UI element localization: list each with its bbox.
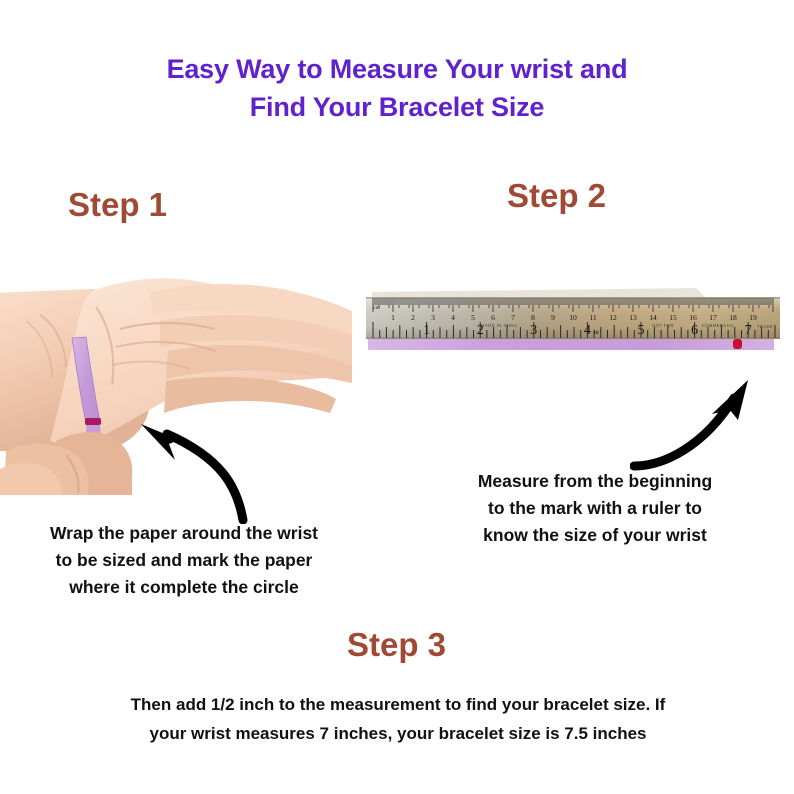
svg-text:17: 17 (709, 313, 717, 322)
step-2-heading: Step 2 (507, 177, 606, 215)
svg-text:4: 4 (451, 313, 455, 322)
little-finger (164, 377, 336, 413)
svg-text:18: 18 (729, 313, 737, 322)
svg-text:16: 16 (689, 313, 697, 322)
cm-unit-label: cm (373, 305, 380, 311)
step-3-heading: Step 3 (347, 626, 446, 664)
svg-text:5: 5 (638, 323, 645, 338)
imprint-not-for: NOT FOR (652, 323, 674, 328)
page-title-line-2: Find Your Bracelet Size (0, 88, 794, 126)
step-3-caption-line-1: Then add 1/2 inch to the measurement to … (62, 690, 734, 719)
svg-text:13: 13 (629, 313, 637, 322)
svg-text:1: 1 (423, 323, 430, 338)
svg-text:4: 4 (584, 323, 591, 338)
svg-text:11: 11 (589, 313, 597, 322)
ruler-photo: cm 123 456 789 101112 131415 161718 19 (366, 282, 780, 364)
svg-text:10: 10 (569, 313, 577, 322)
step-1-heading: Step 1 (68, 186, 167, 224)
inch-unit-label: in (594, 330, 599, 336)
step-2-caption-line-3: know the size of your wrist (404, 522, 786, 549)
step-3-caption: Then add 1/2 inch to the measurement to … (62, 690, 734, 748)
step-1-caption: Wrap the paper around the wrist to be si… (0, 520, 368, 601)
page-title-line-1: Easy Way to Measure Your wrist and (0, 50, 794, 88)
svg-text:3: 3 (530, 323, 537, 338)
svg-text:5: 5 (471, 313, 475, 322)
paper-strip-red-mark (733, 339, 742, 349)
arrow-shaft (167, 434, 243, 520)
svg-text:12: 12 (609, 313, 617, 322)
imprint-commercial: COMMERCIAL (702, 323, 735, 328)
svg-text:19: 19 (749, 313, 757, 322)
svg-text:6: 6 (691, 323, 698, 338)
step-1-caption-line-2: to be sized and mark the paper (0, 547, 368, 574)
svg-text:14: 14 (649, 313, 657, 322)
svg-text:2: 2 (411, 313, 415, 322)
infographic-page: Easy Way to Measure Your wrist and Find … (0, 0, 794, 794)
svg-text:7: 7 (511, 313, 515, 322)
svg-text:1: 1 (391, 313, 395, 322)
arrow-head (141, 424, 179, 460)
step-1-caption-line-3: where it complete the circle (0, 574, 368, 601)
curved-arrow-step-2 (630, 376, 760, 472)
page-title: Easy Way to Measure Your wrist and Find … (0, 50, 794, 126)
step-3-caption-line-2: your wrist measures 7 inches, your brace… (62, 719, 734, 748)
imprint-made-in-india: MADE IN INDIA (481, 323, 517, 328)
step-2-caption-line-1: Measure from the beginning (404, 468, 786, 495)
paper-strip-mark (85, 418, 101, 425)
svg-text:15: 15 (669, 313, 677, 322)
step-1-caption-line-1: Wrap the paper around the wrist (0, 520, 368, 547)
imprint-trade: TRADE (757, 324, 773, 329)
step-2-caption: Measure from the beginning to the mark w… (404, 468, 786, 549)
svg-text:7: 7 (745, 323, 752, 338)
svg-text:9: 9 (551, 313, 555, 322)
step-2-caption-line-2: to the mark with a ruler to (404, 495, 786, 522)
svg-text:8: 8 (531, 313, 535, 322)
curved-arrow-step-1 (125, 412, 265, 524)
svg-text:6: 6 (491, 313, 495, 322)
svg-text:3: 3 (431, 313, 435, 322)
